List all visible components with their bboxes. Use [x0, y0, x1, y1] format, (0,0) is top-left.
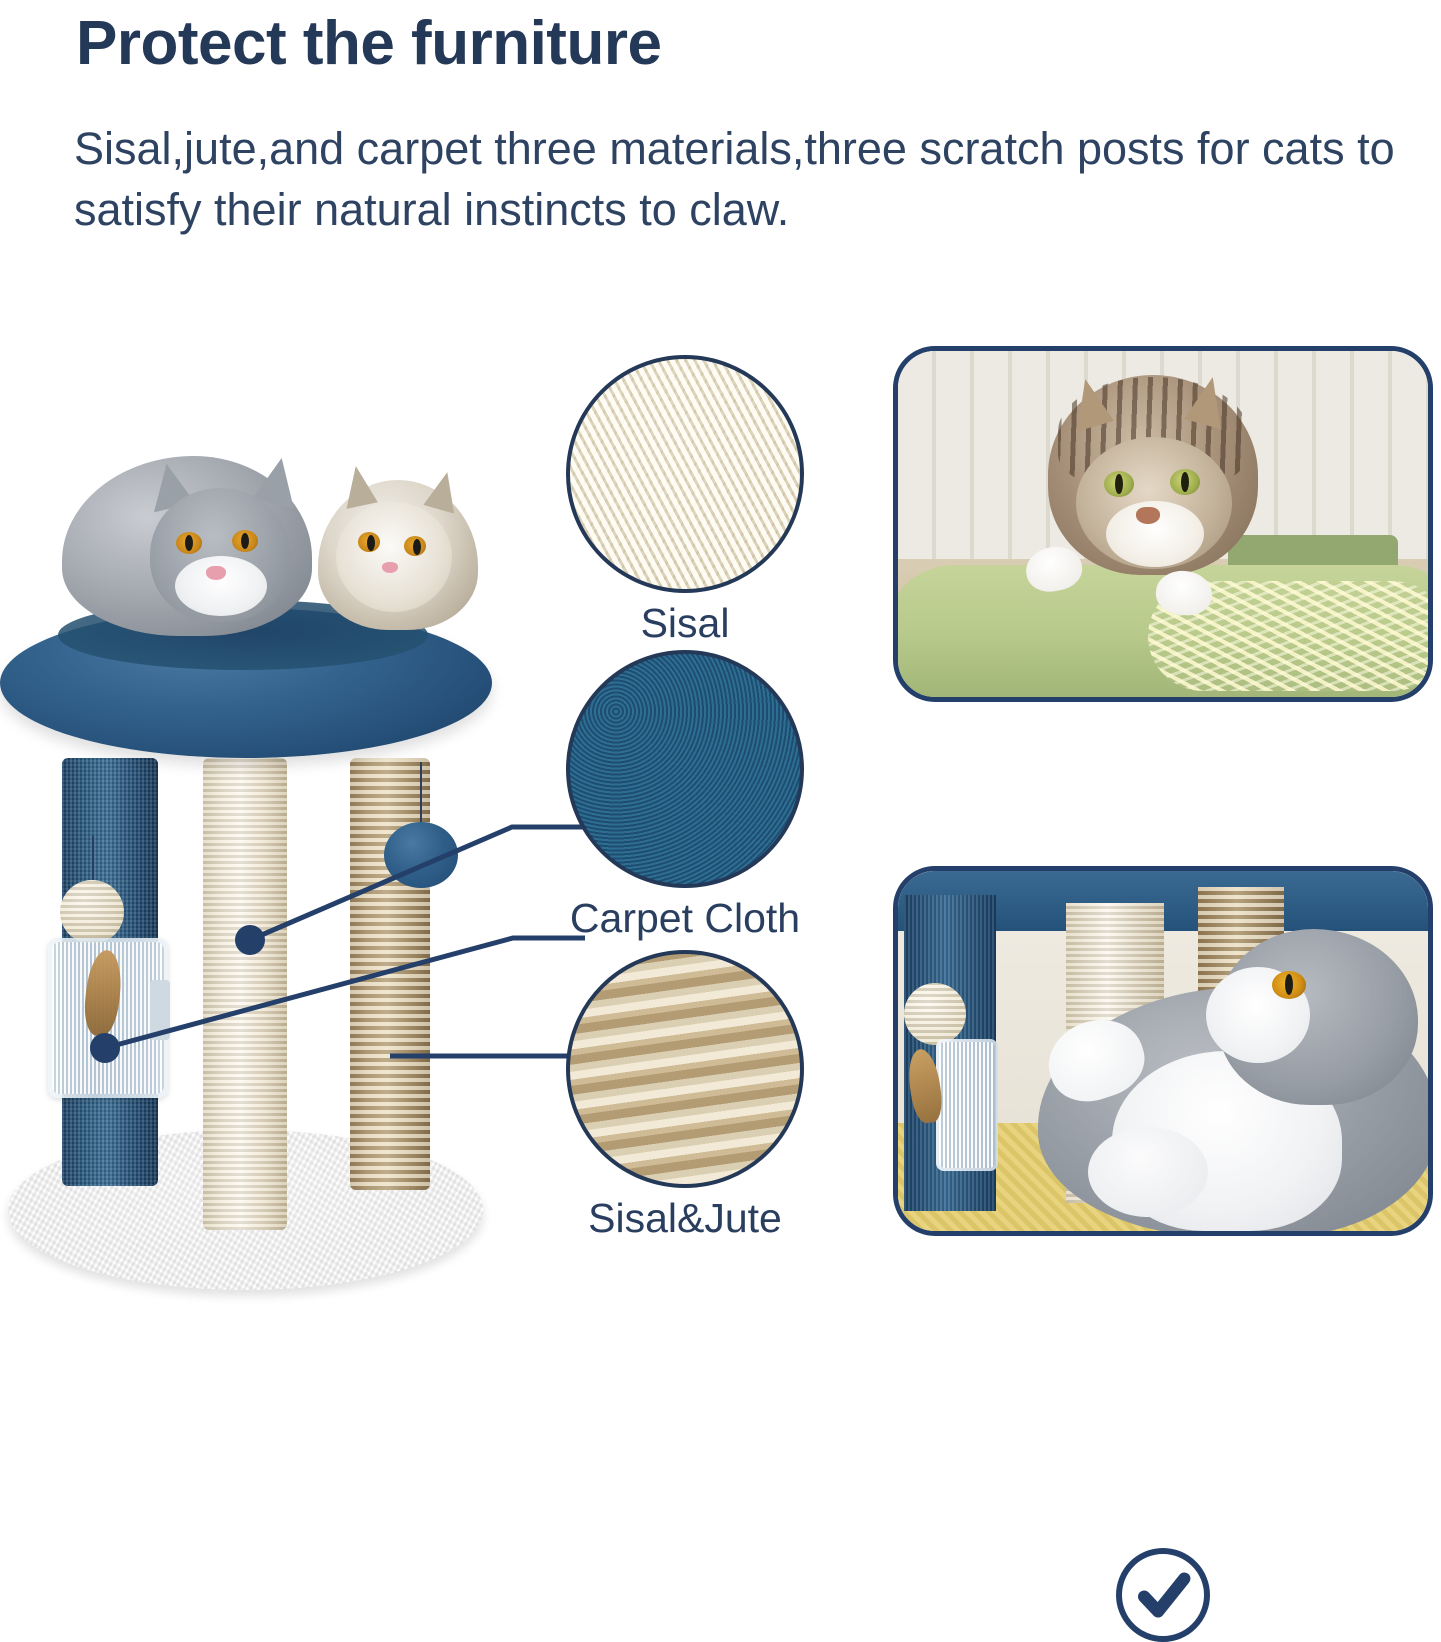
material-callout-carpet: Carpet Cloth — [566, 650, 804, 943]
kitten-face — [336, 502, 452, 612]
sisal-ball-cord — [92, 836, 94, 886]
material-label-jute: Sisal&Jute — [566, 1194, 804, 1243]
infographic-stage: Sisal Carpet Cloth Sisal&Jute — [0, 300, 1441, 1345]
kitten-ear-right — [423, 468, 464, 513]
tabby-nose — [1136, 507, 1160, 524]
material-callout-jute: Sisal&Jute — [566, 950, 804, 1243]
kitten-eye-right — [404, 536, 426, 556]
carpet-swatch-circle — [566, 650, 804, 888]
photo-damaged-sofa — [893, 346, 1433, 702]
scene-groomer-brush — [936, 1039, 998, 1171]
material-label-carpet: Carpet Cloth — [566, 894, 804, 943]
groomer-clip — [150, 980, 170, 1040]
sisal-swatch-circle — [566, 355, 804, 593]
page-subtitle: Sisal,jute,and carpet three materials,th… — [74, 118, 1404, 240]
kitten-eye-left — [358, 532, 380, 552]
tabby-eye-left — [1104, 471, 1134, 497]
photo-cat-using-tree — [893, 866, 1433, 1236]
check-icon — [1116, 1548, 1210, 1642]
header: Protect the furniture Sisal,jute,and car… — [0, 0, 1441, 270]
hanging-pom-toy — [384, 822, 458, 888]
scene-sisal-ball — [904, 983, 966, 1045]
cat-eye-right — [232, 530, 258, 552]
jute-swatch-circle — [566, 950, 804, 1188]
hanging-sisal-ball — [60, 880, 124, 944]
page-title: Protect the furniture — [76, 8, 661, 79]
tabby-eye-right — [1170, 469, 1200, 495]
product-photo — [0, 360, 540, 1290]
material-callout-sisal: Sisal — [566, 355, 804, 648]
post-sisal — [203, 758, 287, 1230]
pom-cord — [420, 762, 422, 826]
cat-eye-left — [176, 532, 202, 554]
scene-cat-paw-lower — [1088, 1127, 1208, 1217]
kitten-nose — [382, 562, 398, 573]
scene-cat-eye — [1272, 971, 1306, 999]
material-label-sisal: Sisal — [566, 599, 804, 648]
cat-muzzle — [175, 556, 267, 616]
kitten-ear-left — [338, 463, 378, 509]
cat-nose — [206, 566, 226, 580]
